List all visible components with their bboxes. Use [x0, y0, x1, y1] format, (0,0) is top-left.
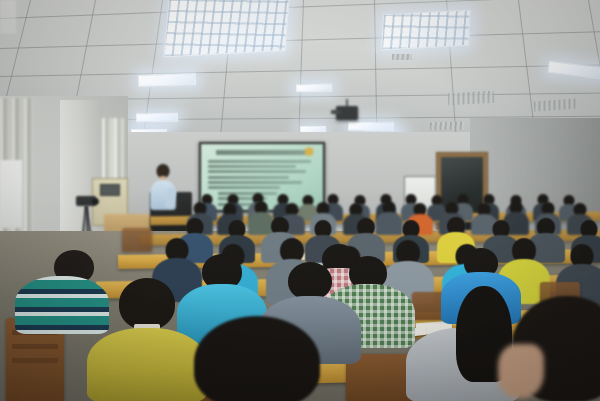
slide-bullet	[208, 176, 289, 179]
camera-lens-icon	[92, 198, 99, 205]
student-torso	[87, 328, 207, 401]
student-head	[119, 278, 175, 330]
ceiling-light-fixture	[348, 122, 394, 132]
presenter	[146, 164, 180, 210]
lecture-hall-photo: university lecture hall during a seminar…	[0, 0, 600, 401]
window	[0, 160, 22, 228]
ceiling-vent	[392, 54, 412, 60]
ceiling-light-fixture	[138, 73, 196, 87]
ceiling-light-fixture	[296, 84, 332, 93]
chair[interactable]	[122, 228, 152, 252]
ceiling-vent	[448, 91, 495, 105]
ceiling-light-fixture	[381, 10, 471, 51]
student-head	[288, 262, 332, 300]
projector-icon	[336, 106, 358, 120]
ceiling-light-fixture	[136, 113, 178, 123]
slide-bullet	[208, 160, 310, 163]
ceiling-light-fixture	[163, 0, 290, 57]
ceiling-vent	[430, 121, 464, 130]
slide-bullet	[208, 165, 296, 168]
slide-logo-icon	[302, 147, 315, 156]
slide-title-bar	[216, 150, 306, 155]
student-dark-center	[190, 316, 324, 401]
student-foreground-r	[492, 300, 600, 401]
slide-bullet	[208, 181, 302, 184]
cabinet-panel	[100, 184, 120, 196]
student-hand	[498, 344, 544, 398]
window	[0, 0, 16, 34]
chair-slat	[12, 358, 58, 363]
slide-bullet	[208, 186, 280, 189]
slide-bullet	[208, 170, 306, 173]
student-head	[194, 316, 320, 401]
chair-slat	[12, 344, 58, 349]
